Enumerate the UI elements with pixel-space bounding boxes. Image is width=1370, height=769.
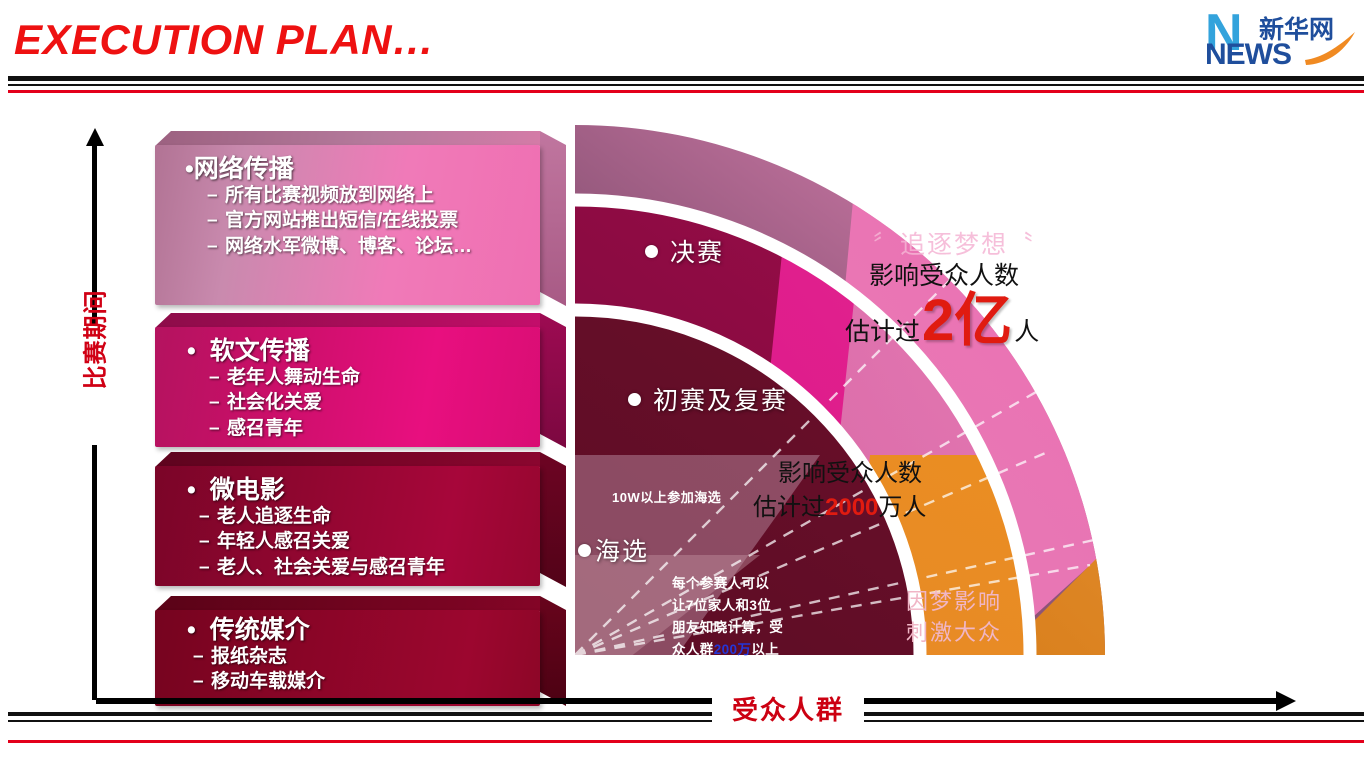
y-axis-label: 比赛期间 (76, 280, 111, 400)
box-front-face: •网络传播 –所有比赛视频放到网络上 –官方网站推出短信/在线投票 –网络水军微… (155, 145, 540, 305)
box-item: –所有比赛视频放到网络上 (185, 183, 540, 208)
stage-label-audition: 海选 (578, 532, 649, 568)
box-item: –年轻人感召关爱 (187, 529, 540, 554)
xinhua-news-logo: N NEWS 新华网 (1197, 4, 1362, 70)
box-item: –老人、社会关爱与感召青年 (187, 555, 540, 580)
mid-stat-line2: 估计过2000万人 (753, 487, 926, 522)
x-axis-label: 受众人群 (712, 690, 864, 727)
box-item: –网络水军微博、博客、论坛… (185, 234, 540, 259)
footer-rule-red (8, 740, 1364, 743)
final-stat-line1: 影响受众人数 (869, 256, 1019, 292)
media-box-softarticle[interactable]: •软文传播 –老年人舞动生命 –社会化关爱 –感召青年 (155, 313, 573, 448)
orange-sector-note: 因梦影响 刺激大众 (906, 586, 1002, 648)
orange-note-line1: 因梦影响 (906, 586, 1002, 617)
box-item: –社会化关爱 (187, 390, 540, 415)
box-title: •传统媒介 (187, 616, 540, 644)
audition-paragraph-line1: 每个参赛人可以 (672, 573, 783, 595)
stage-bullet-icon (645, 245, 658, 258)
footer-rule-thin (8, 720, 1364, 722)
stage-label-final: 决赛 (645, 233, 724, 269)
x-axis-arrow-icon (1276, 691, 1296, 711)
logo-cn-text: 新华网 (1259, 15, 1334, 44)
box-title: •微电影 (187, 476, 540, 504)
orange-note-line2: 刺激大众 (906, 617, 1002, 648)
final-stat-line2: 估计过2亿人 (845, 297, 1039, 348)
audition-count-note: 10W以上参加海选 (612, 487, 721, 506)
box-item: –老年人舞动生命 (187, 365, 540, 390)
stage-label-preliminary: 初赛及复赛 (628, 381, 788, 417)
page-title: EXECUTION PLAN… (14, 16, 435, 64)
box-item: –移动车载媒介 (187, 669, 540, 694)
box-front-face: •传统媒介 –报纸杂志 –移动车载媒介 (155, 610, 540, 706)
audition-number: 200万 (714, 642, 752, 657)
stage-bullet-icon (578, 544, 591, 557)
header-rule-thick (8, 76, 1364, 81)
box-item: –老人追逐生命 (187, 504, 540, 529)
slide-canvas: EXECUTION PLAN… N NEWS 新华网 比赛期间 •网络传播 –所… (0, 0, 1370, 769)
box-title: •软文传播 (187, 337, 540, 365)
final-stat-number: 2亿 (922, 297, 1012, 345)
box-bullet-icon: • (187, 337, 196, 365)
box-item: –感召青年 (187, 416, 540, 441)
audition-paragraph-line4: 众人群200万以上 (672, 639, 783, 661)
box-title: •网络传播 (185, 155, 540, 183)
x-axis-line (96, 698, 1282, 704)
footer-rule-thick (8, 712, 1364, 716)
stage-bullet-icon (628, 393, 641, 406)
box-front-face: •软文传播 –老年人舞动生命 –社会化关爱 –感召青年 (155, 327, 540, 447)
audition-paragraph: 每个参赛人可以 让7位家人和3位 朋友知晓计算，受 众人群200万以上 (672, 573, 783, 660)
box-top-face (155, 313, 556, 328)
box-bullet-icon: • (185, 155, 194, 183)
audition-paragraph-line3: 朋友知晓计算，受 (672, 617, 783, 639)
media-box-network[interactable]: •网络传播 –所有比赛视频放到网络上 –官方网站推出短信/在线投票 –网络水军微… (155, 131, 573, 306)
header-rule-red (8, 90, 1364, 93)
box-item: –官方网站推出短信/在线投票 (185, 208, 540, 233)
box-bullet-icon: • (187, 476, 196, 504)
box-item: –报纸杂志 (187, 644, 540, 669)
box-top-face (155, 452, 556, 467)
mid-stat-line1: 影响受众人数 (778, 453, 922, 488)
media-box-traditional[interactable]: •传统媒介 –报纸杂志 –移动车载媒介 (155, 596, 573, 706)
mid-stat-number: 2000 (825, 494, 878, 521)
box-bullet-icon: • (187, 616, 196, 644)
media-box-microfilm[interactable]: •微电影 –老人追逐生命 –年轻人感召关爱 –老人、社会关爱与感召青年 (155, 452, 573, 587)
box-top-face (155, 131, 556, 146)
box-top-face (155, 596, 556, 611)
header-rule-thin (8, 84, 1364, 86)
box-front-face: •微电影 –老人追逐生命 –年轻人感召关爱 –老人、社会关爱与感召青年 (155, 466, 540, 586)
audition-paragraph-line2: 让7位家人和3位 (672, 595, 783, 617)
